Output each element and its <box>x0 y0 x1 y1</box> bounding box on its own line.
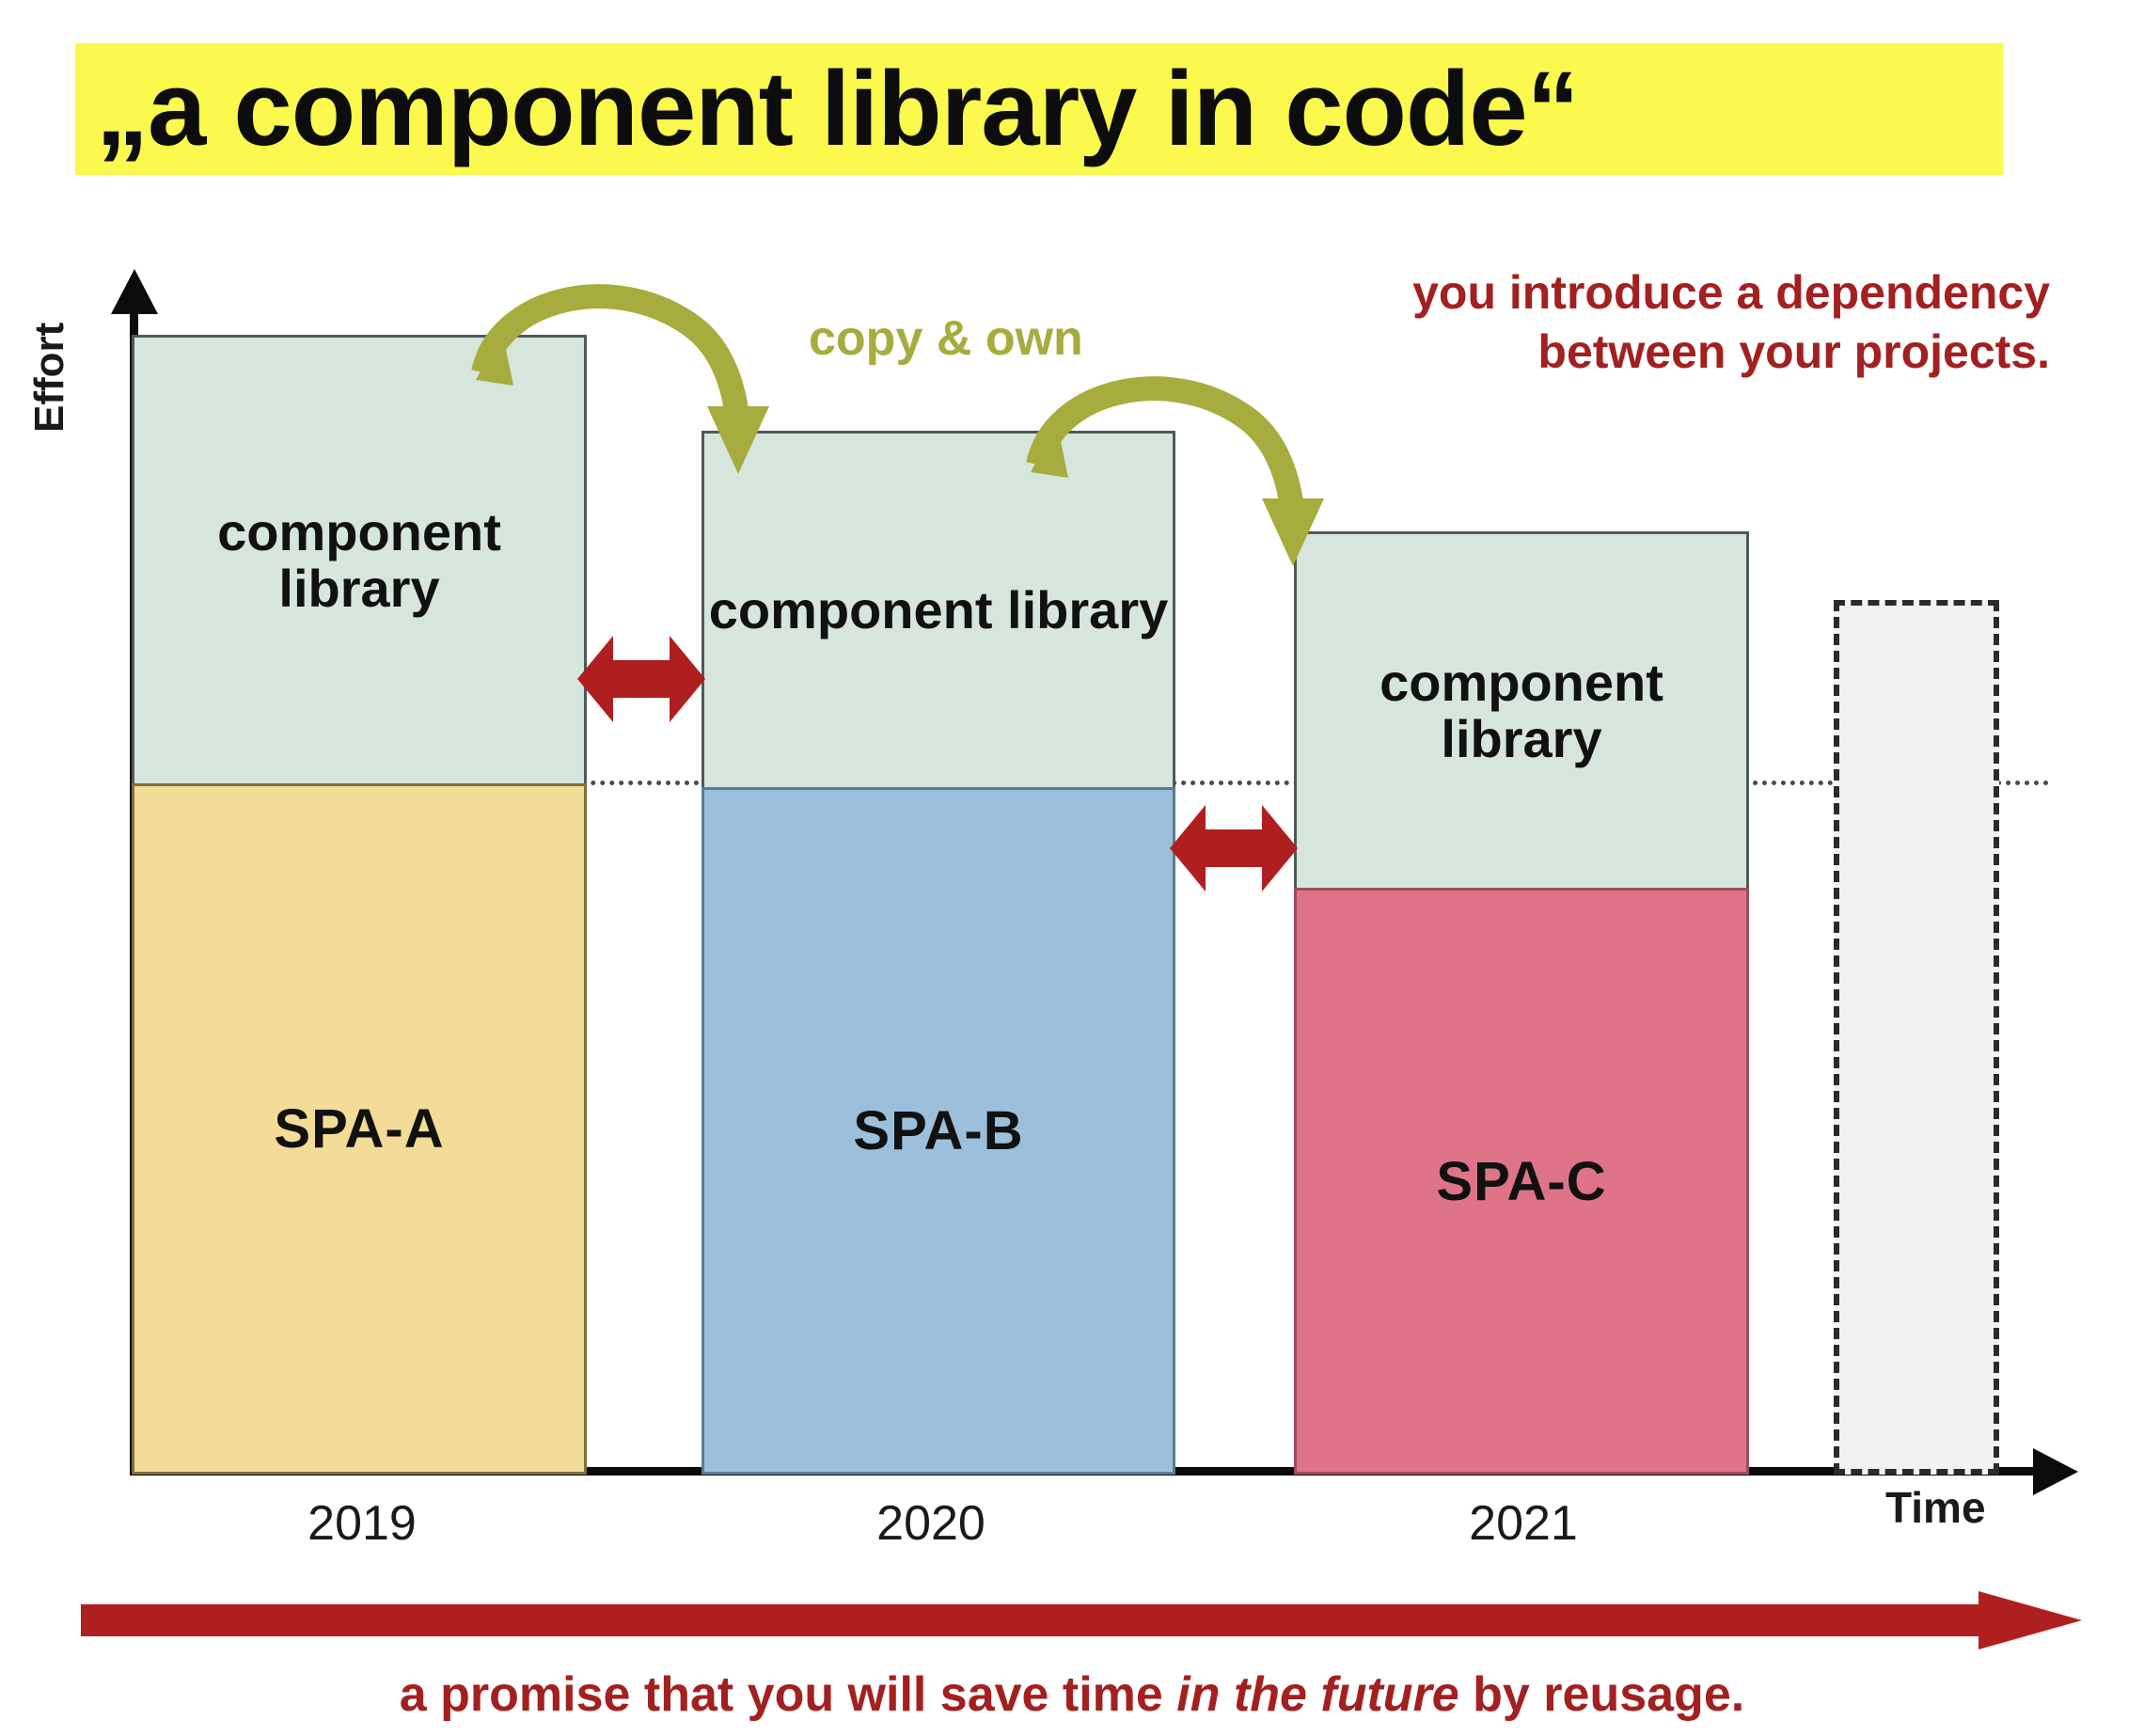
effort-over-time-chart: Effort Time component library SPA-A comp… <box>0 245 2144 1458</box>
dependency-double-arrow-icon <box>577 619 705 739</box>
x-tick-2019: 2019 <box>174 1495 550 1552</box>
copy-own-label: copy & own <box>809 310 1083 367</box>
bar-2019-application: SPA-A <box>132 783 587 1475</box>
y-axis-label: Effort <box>26 323 73 433</box>
promise-arrow-icon <box>81 1591 2082 1649</box>
bar-2021-component-library: component library <box>1294 531 1749 891</box>
title-highlight-band: „a component library in code“ <box>75 43 2003 175</box>
dependency-double-arrow-icon <box>1170 788 1298 908</box>
bar-2021-application: SPA-C <box>1294 888 1749 1475</box>
dependency-note-line-2: between your projects. <box>1204 323 2050 382</box>
promise-suffix: by reusage. <box>1459 1667 1744 1722</box>
bar-2021-app-label: SPA-C <box>1436 1150 1606 1213</box>
copy-own-curved-arrow-icon <box>470 275 771 510</box>
y-axis-arrowhead-icon <box>111 269 158 314</box>
bar-2020-app-label: SPA-B <box>853 1099 1023 1162</box>
promise-prefix: a promise that you will save time <box>400 1667 1177 1722</box>
bar-2020-application: SPA-B <box>702 787 1175 1475</box>
bar-2019-app-label: SPA-A <box>274 1097 444 1160</box>
page-title: „a component library in code“ <box>75 56 1579 162</box>
bar-2019-library-label: component library <box>134 504 584 618</box>
dependency-note: you introduce a dependency between your … <box>1204 263 2050 381</box>
dependency-note-line-1: you introduce a dependency <box>1204 263 2050 323</box>
promise-italic: in the future <box>1176 1667 1458 1722</box>
x-tick-2021: 2021 <box>1335 1495 1711 1552</box>
copy-own-curved-arrow-icon <box>1025 367 1326 602</box>
x-axis-label: Time <box>1885 1482 1986 1533</box>
promise-caption: a promise that you will save time in the… <box>0 1666 2144 1723</box>
bar-2021-library-label: component library <box>1297 655 1746 768</box>
x-tick-2020: 2020 <box>743 1495 1119 1552</box>
bar-future-placeholder <box>1834 600 1999 1475</box>
x-axis-arrowhead-icon <box>2033 1448 2078 1495</box>
